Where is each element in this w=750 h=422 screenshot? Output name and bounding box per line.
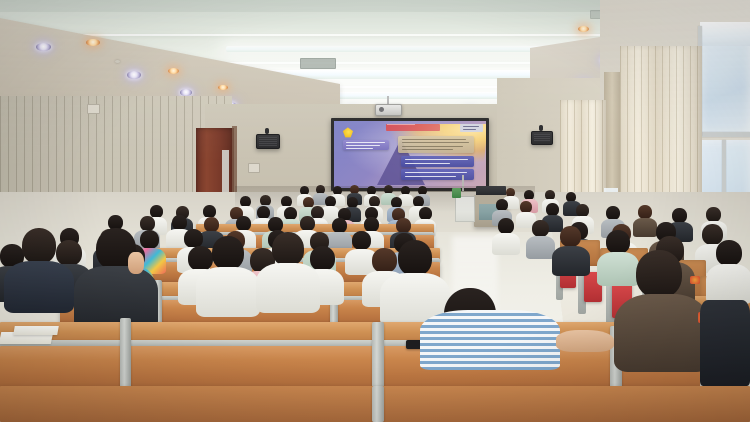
audience-member-foreground	[700, 300, 750, 386]
ceiling-downlight	[180, 89, 192, 96]
wall-speaker-left	[256, 134, 280, 149]
ceiling-downlight	[578, 26, 589, 32]
lecture-hall-photo	[0, 0, 750, 422]
ceiling-downlight	[218, 85, 228, 90]
ceiling-downlight	[168, 68, 179, 74]
seat-divider	[120, 318, 131, 390]
slide-corner-caption	[460, 124, 483, 131]
arm	[556, 330, 614, 352]
light-switch-plate[interactable]	[87, 104, 100, 114]
wall-speaker-right	[531, 131, 553, 145]
projector-lens	[379, 107, 384, 112]
ceiling-downlight	[127, 71, 141, 79]
lapel-badge	[690, 276, 700, 284]
smoke-detector	[115, 60, 120, 63]
light-switch-plate[interactable]	[248, 163, 260, 173]
ceiling-downlight	[86, 39, 100, 46]
slide-text-box	[401, 156, 474, 167]
hand	[128, 252, 144, 274]
window-glass	[700, 22, 750, 46]
slide-title-banner	[386, 124, 441, 131]
projection-screen	[331, 118, 489, 191]
papers-on-desk	[13, 326, 59, 335]
ceiling-downlight	[36, 43, 51, 51]
seat-divider	[372, 386, 384, 422]
ceiling-vent	[300, 58, 336, 69]
slide-text-box	[398, 136, 474, 153]
